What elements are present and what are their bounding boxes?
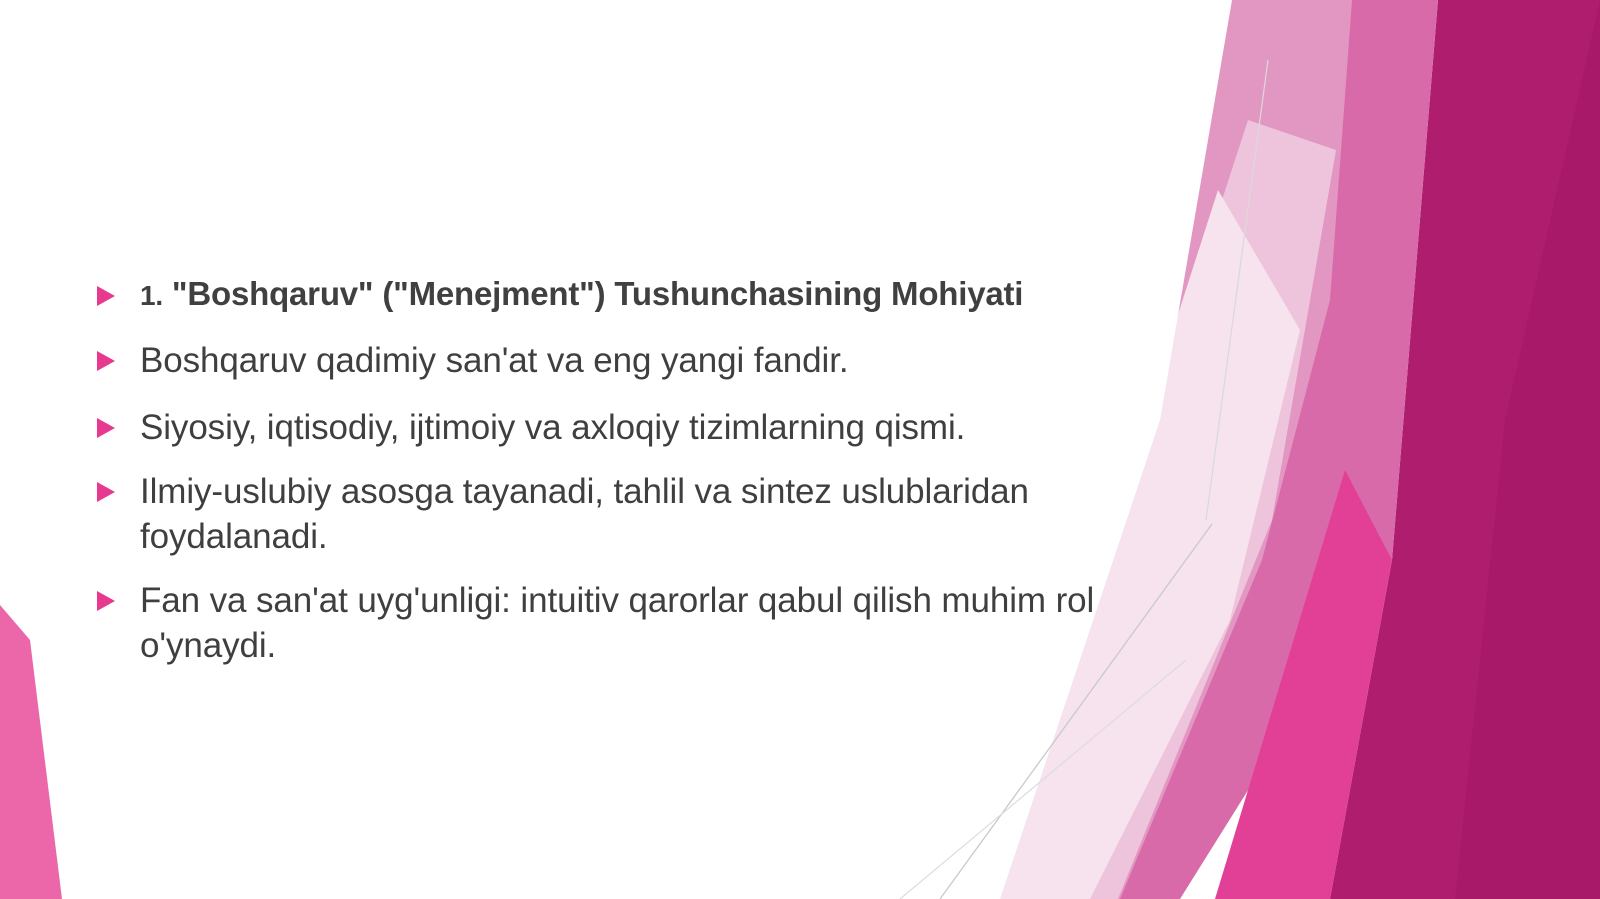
list-item-text: Siyosiy, iqtisodiy, ijtimoiy va axloqiy … (140, 405, 1156, 451)
deco-shape-bottom-left-wedge (0, 605, 62, 899)
presentation-slide: 1. "Boshqaruv" ("Menejment") Tushunchasi… (0, 0, 1600, 899)
triangle-right-icon (96, 350, 118, 372)
list-item: Siyosiy, iqtisodiy, ijtimoiy va axloqiy … (96, 405, 1156, 451)
heading-number: 1. (140, 280, 163, 311)
deco-line-bottom-diagonal (900, 660, 1186, 899)
triangle-right-icon (96, 285, 118, 307)
deco-shape-deep-magenta-right (1330, 0, 1600, 899)
list-item: Boshqaruv qadimiy san'at va eng yangi fa… (96, 338, 1156, 384)
deco-shape-vivid-pink-streak (1215, 470, 1392, 899)
deco-shape-magenta-wedge (1455, 0, 1600, 899)
list-item-text: Ilmiy-uslubiy asosga tayanadi, tahlil va… (140, 469, 1156, 560)
list-item: Ilmiy-uslubiy asosga tayanadi, tahlil va… (96, 469, 1156, 560)
heading-bullet-row: 1. "Boshqaruv" ("Menejment") Tushunchasi… (96, 272, 1156, 316)
deco-line-upper-diagonal (1206, 60, 1268, 520)
slide-content: 1. "Boshqaruv" ("Menejment") Tushunchasi… (96, 272, 1156, 669)
triangle-right-icon (96, 590, 118, 612)
triangle-right-icon (96, 417, 118, 439)
list-item-text: Boshqaruv qadimiy san'at va eng yangi fa… (140, 338, 1156, 384)
list-item-text: Fan va san'at uyg'unligi: intuitiv qaror… (140, 578, 1156, 669)
slide-heading: 1. "Boshqaruv" ("Menejment") Tushunchasi… (140, 272, 1156, 316)
heading-title: "Boshqaruv" ("Menejment") Tushunchasinin… (172, 275, 1023, 312)
triangle-right-icon (96, 481, 118, 503)
list-item: Fan va san'at uyg'unligi: intuitiv qaror… (96, 578, 1156, 669)
